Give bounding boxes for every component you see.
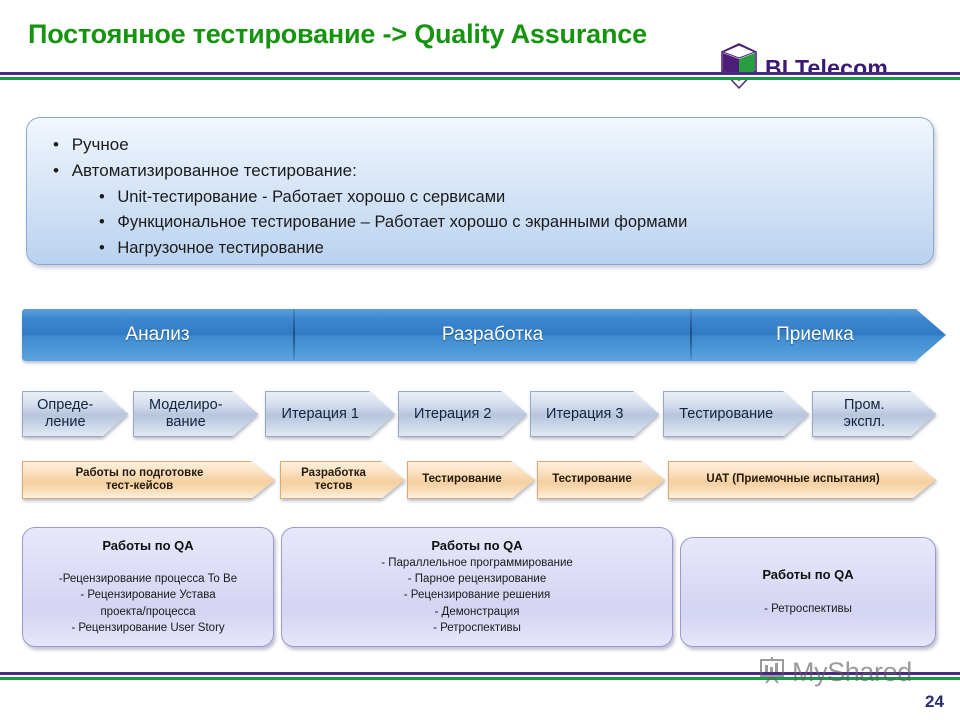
qa-box-title: Работы по QA (102, 538, 193, 553)
cube-logo-icon (720, 43, 758, 94)
phase-arrow-bar: АнализРазработкаПриемка (22, 309, 938, 361)
qa-detail-box: Работы по QA -Рецензирование процесса To… (22, 527, 274, 647)
callout-bullet: • Функциональное тестирование – Работает… (47, 210, 913, 236)
qa-detail-box: Работы по QA- Параллельное программирова… (281, 527, 673, 647)
process-chevron[interactable]: Работы по подготовкетест-кейсов (22, 461, 275, 499)
process-chevron[interactable]: Итерация 3 (530, 391, 659, 437)
phase-divider (293, 309, 295, 361)
process-chevron[interactable]: Разработкатестов (280, 461, 405, 499)
phase-divider (690, 309, 692, 361)
callout-bullet: • Автоматизированное тестирование: (47, 158, 913, 184)
process-chevron-label: Тестирование (552, 473, 650, 486)
qa-box-line (59, 555, 237, 571)
qa-box-line: - Демонстрация (381, 604, 573, 620)
process-chevron[interactable]: Итерация 2 (398, 391, 527, 437)
process-chevron-label: Моделиро-вание (149, 397, 242, 430)
phase-segment-label: Приемка (776, 324, 854, 346)
callout-bullet: • Unit-тестирование - Работает хорошо с … (47, 185, 913, 211)
qa-box-line: - Рецензирование User Story (59, 620, 237, 636)
slide-header: Постоянное тестирование -> Quality Assur… (0, 0, 960, 92)
process-chevron[interactable]: Тестирование (407, 461, 535, 499)
phase-segment-label: Анализ (125, 324, 189, 346)
callout-bullet-list: • Ручное• Автоматизированное тестировани… (47, 132, 913, 262)
process-chevron-label: Итерация 3 (546, 406, 643, 423)
qa-box-title: Работы по QA (431, 538, 522, 553)
qa-box-lines: - Параллельное программирование- Парное … (381, 555, 573, 637)
qa-box-line: - Парное рецензирование (381, 571, 573, 587)
header-rule-green (0, 77, 960, 80)
phase-segment[interactable]: Разработка (295, 309, 690, 361)
bullet-dot-icon: • (53, 161, 72, 180)
qa-box-line (764, 584, 852, 600)
callout-bullet-label: Нагрузочное тестирование (117, 239, 323, 257)
process-chevron[interactable]: Опреде-ление (22, 391, 128, 437)
page-number: 24 (925, 692, 944, 712)
brand-logo: BI Telecom (720, 43, 888, 94)
callout-bullet-label: Автоматизированное тестирование: (72, 161, 357, 180)
qa-box-line: - Параллельное программирование (381, 555, 573, 571)
qa-box-line: - Рецензирование решения (381, 587, 573, 603)
process-chevron-label: UAT (Приемочные испытания) (706, 473, 897, 486)
process-chevron[interactable]: Тестирование (537, 461, 665, 499)
myshared-watermark: MyShared (757, 655, 912, 690)
process-chevron-label: Работы по подготовкетест-кейсов (76, 467, 222, 493)
page-title: Постоянное тестирование -> Quality Assur… (28, 19, 647, 50)
process-chevron[interactable]: Тестирование (663, 391, 809, 437)
process-chevron-label: Тестирование (679, 406, 793, 423)
qa-box-lines: -Рецензирование процесса To Be- Рецензир… (59, 555, 237, 637)
qa-box-line: - Ретроспективы (764, 601, 852, 617)
qa-box-lines: - Ретроспективы (764, 584, 852, 617)
summary-callout: • Ручное• Автоматизированное тестировани… (26, 117, 934, 265)
process-chevron-label: Опреде-ление (37, 397, 113, 430)
process-chevron-label: Тестирование (422, 473, 520, 486)
watermark-label: MyShared (792, 657, 912, 688)
bullet-dot-icon: • (53, 135, 72, 154)
callout-bullet-label: Функциональное тестирование – Работает х… (117, 213, 687, 231)
process-chevron[interactable]: UAT (Приемочные испытания) (668, 461, 936, 499)
qa-box-line: - Ретроспективы (381, 620, 573, 636)
process-chevron-label: Пром.экспл. (844, 397, 905, 430)
qa-box-line: проекта/процесса (59, 604, 237, 620)
process-chevron-label: Итерация 1 (282, 406, 379, 423)
callout-bullet-label: Ручное (72, 135, 129, 154)
phase-segment[interactable]: Анализ (22, 309, 293, 361)
process-chevron-label: Разработкатестов (301, 467, 384, 493)
bullet-dot-icon: • (99, 213, 117, 231)
process-chevron[interactable]: Моделиро-вание (133, 391, 258, 437)
phase-segment-label: Разработка (442, 324, 543, 346)
presentation-board-icon (757, 655, 787, 690)
qa-box-line: - Рецензирование Устава (59, 587, 237, 603)
process-chevron[interactable]: Пром.экспл. (812, 391, 936, 437)
process-chevron[interactable]: Итерация 1 (265, 391, 395, 437)
bullet-dot-icon: • (99, 188, 117, 206)
qa-detail-box: Работы по QA - Ретроспективы (680, 537, 936, 647)
process-chevron-label: Итерация 2 (414, 406, 511, 423)
phase-segment[interactable]: Приемка (692, 309, 938, 361)
callout-bullet: • Ручное (47, 132, 913, 158)
bullet-dot-icon: • (99, 239, 117, 257)
callout-bullet: • Нагрузочное тестирование (47, 236, 913, 262)
qa-box-line: -Рецензирование процесса To Be (59, 571, 237, 587)
qa-box-title: Работы по QA (762, 567, 853, 582)
callout-bullet-label: Unit-тестирование - Работает хорошо с се… (117, 188, 505, 206)
